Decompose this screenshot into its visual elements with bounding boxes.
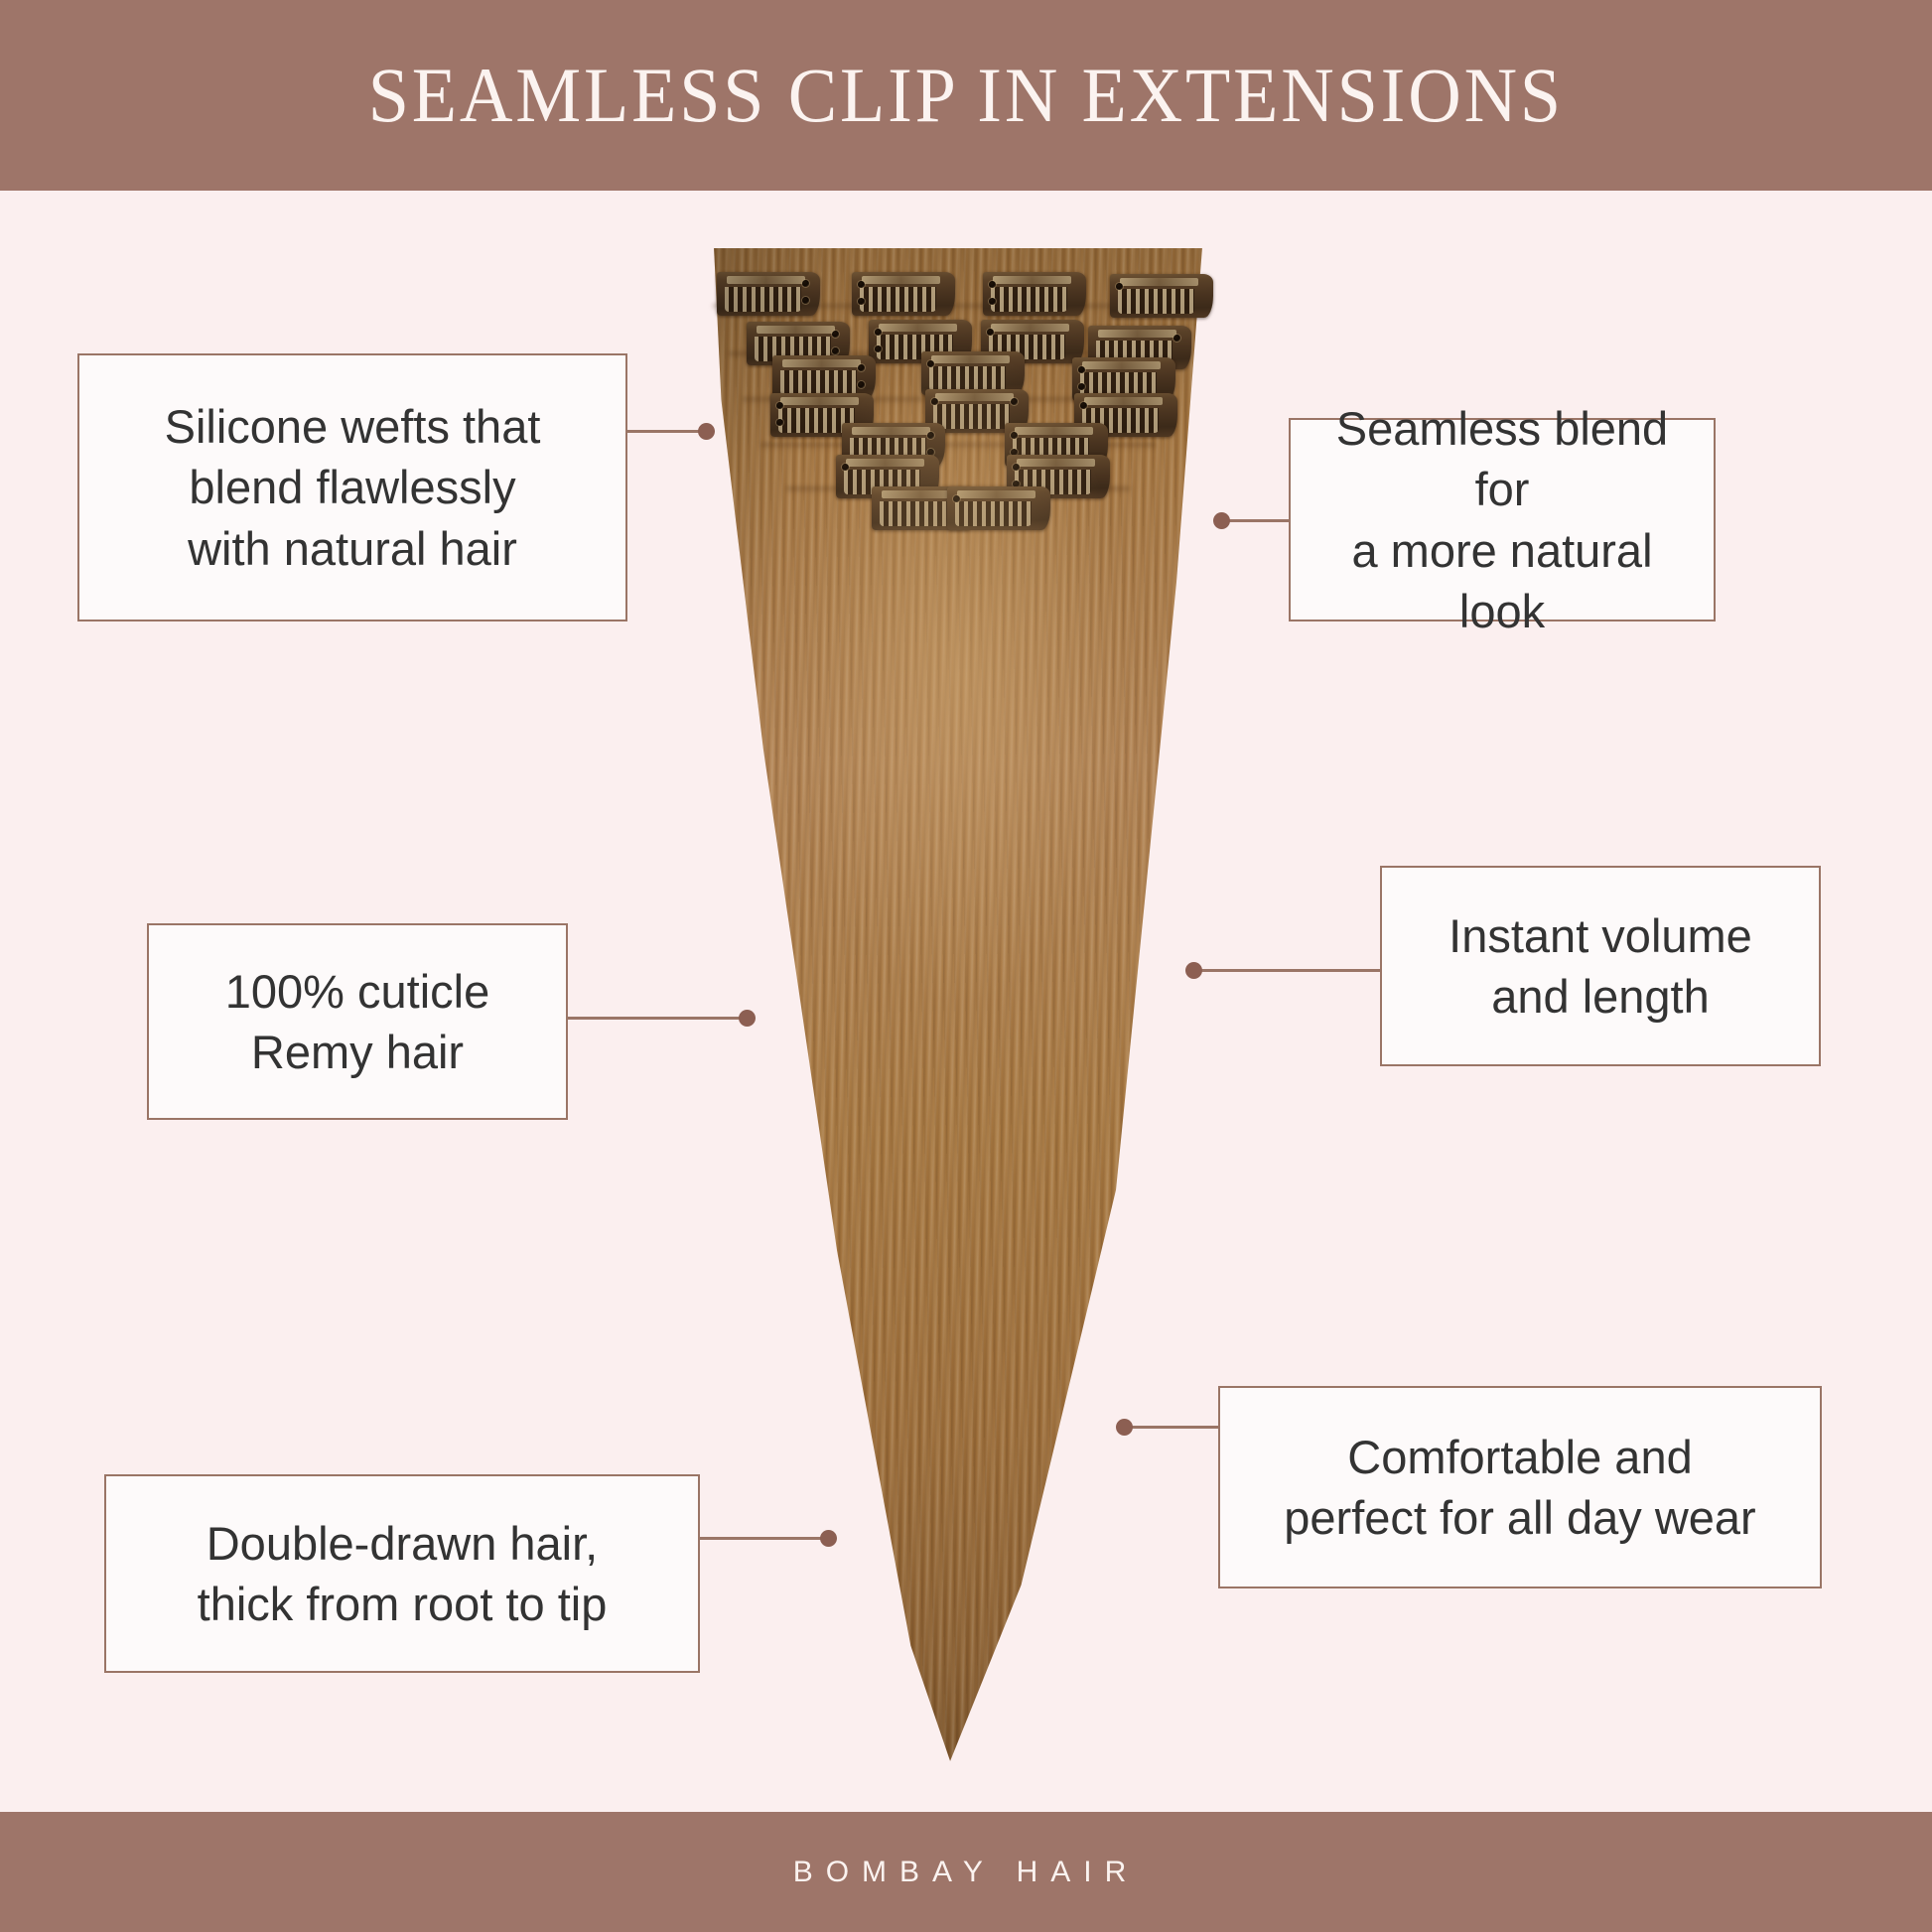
callout-silicone-wefts-text: Silicone wefts that blend flawlessly wit… [165, 396, 541, 578]
page-title: SEAMLESS CLIP IN EXTENSIONS [368, 51, 1564, 140]
clip-brand-bar [852, 427, 930, 435]
callout-comfortable-wear-text: Comfortable and perfect for all day wear [1284, 1427, 1755, 1548]
callout-seamless-blend-text: Seamless blend for a more natural look [1312, 398, 1692, 640]
clip-brand-bar [993, 276, 1071, 284]
clip-rivet [858, 381, 865, 388]
clip-rivet [1011, 432, 1018, 439]
clip-teeth [955, 501, 1032, 526]
callout-remy-hair[interactable]: 100% cuticle Remy hair [147, 923, 568, 1120]
clip-plate [1110, 274, 1213, 318]
clip-rivet [776, 402, 783, 409]
clip-brand-bar [935, 393, 1014, 401]
clip-rivet [858, 281, 865, 288]
clip-rivet [875, 329, 882, 336]
clip-rivet [802, 280, 809, 287]
callout-comfortable-wear[interactable]: Comfortable and perfect for all day wear [1218, 1386, 1822, 1588]
footer-banner: BOMBAY HAIR [0, 1812, 1932, 1932]
clip-brand-bar [780, 397, 859, 405]
clip-rivet [875, 345, 882, 352]
clip-rivet [1080, 402, 1087, 409]
clip-rivet [842, 464, 849, 471]
brand-name: BOMBAY HAIR [793, 1856, 1140, 1889]
clip-teeth [780, 370, 857, 395]
clip-rivet [931, 398, 938, 405]
clip-brand-bar [862, 276, 940, 284]
clip-brand-bar [1017, 459, 1095, 467]
clip-rivet [1013, 464, 1020, 471]
clip-rivet [1011, 398, 1018, 405]
clip-rivet [927, 360, 934, 367]
clip-rivet [987, 329, 994, 336]
clip-rivet [832, 347, 839, 354]
snap-clip [717, 272, 820, 316]
clip-rivet [858, 364, 865, 371]
clip-brand-bar [1015, 427, 1093, 435]
clip-teeth [929, 366, 1006, 391]
connector-line-double-drawn [698, 1537, 829, 1540]
callout-double-drawn[interactable]: Double-drawn hair, thick from root to ti… [104, 1474, 700, 1673]
connector-dot-silicone-wefts [698, 423, 715, 440]
connector-line-instant-volume [1195, 969, 1382, 972]
clip-teeth [860, 287, 936, 312]
snap-clip [852, 272, 955, 316]
clip-rivet [953, 495, 960, 502]
clip-brand-bar [957, 490, 1035, 498]
connector-line-seamless-blend [1223, 519, 1291, 522]
callout-silicone-wefts[interactable]: Silicone wefts that blend flawlessly wit… [77, 353, 627, 621]
clip-plate [983, 272, 1086, 316]
clip-teeth [725, 287, 801, 312]
clip-teeth [880, 501, 956, 526]
connector-dot-double-drawn [820, 1530, 837, 1547]
clip-brand-bar [782, 359, 861, 367]
clip-brand-bar [1084, 397, 1163, 405]
connector-dot-comfortable-wear [1116, 1419, 1133, 1436]
clip-rivet [1078, 366, 1085, 373]
infographic-page: SEAMLESS CLIP IN EXTENSIONS [0, 0, 1932, 1932]
clip-rivet [989, 281, 996, 288]
connector-line-remy-hair [566, 1017, 749, 1020]
clip-rivet [1116, 283, 1123, 290]
connector-dot-seamless-blend [1213, 512, 1230, 529]
clip-plate [852, 272, 955, 316]
callout-instant-volume[interactable]: Instant volume and length [1380, 866, 1821, 1066]
clip-plate [947, 486, 1050, 530]
clip-rivet [858, 298, 865, 305]
clip-teeth [1118, 289, 1194, 314]
clip-rivet [1078, 383, 1085, 390]
clip-plate [717, 272, 820, 316]
clip-brand-bar [931, 355, 1010, 363]
connector-dot-instant-volume [1185, 962, 1202, 979]
callout-double-drawn-text: Double-drawn hair, thick from root to ti… [198, 1513, 608, 1634]
callout-instant-volume-text: Instant volume and length [1449, 905, 1752, 1027]
clip-brand-bar [757, 326, 835, 334]
callout-remy-hair-text: 100% cuticle Remy hair [225, 961, 490, 1082]
clip-brand-bar [1120, 278, 1198, 286]
clip-brand-bar [991, 324, 1069, 332]
clip-rivet [776, 419, 783, 426]
clip-brand-bar [727, 276, 805, 284]
snap-clip [1110, 274, 1213, 318]
clip-rivet [989, 298, 996, 305]
clip-rivet [927, 432, 934, 439]
connector-line-comfortable-wear [1124, 1426, 1219, 1429]
clip-brand-bar [879, 324, 957, 332]
clip-brand-bar [1098, 330, 1176, 338]
snap-clip [947, 486, 1050, 530]
clip-rivet [832, 331, 839, 338]
snap-clip [983, 272, 1086, 316]
connector-dot-remy-hair [739, 1010, 756, 1027]
clip-brand-bar [1082, 361, 1161, 369]
clip-rivet [1173, 335, 1180, 342]
clip-teeth [991, 287, 1067, 312]
clip-brand-bar [846, 459, 924, 467]
header-banner: SEAMLESS CLIP IN EXTENSIONS [0, 0, 1932, 191]
clip-rivet [802, 297, 809, 304]
callout-seamless-blend[interactable]: Seamless blend for a more natural look [1289, 418, 1716, 621]
